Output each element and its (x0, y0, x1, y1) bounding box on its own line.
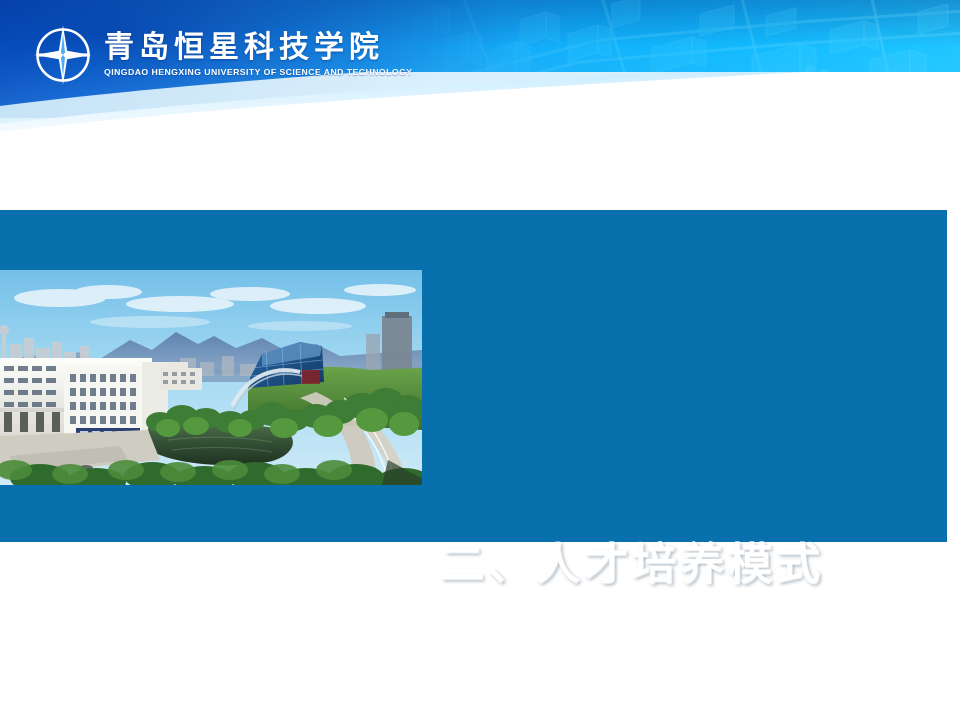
slide-root: 青岛恒星科技学院 QINGDAO HENGXING UNIVERSITY OF … (0, 0, 960, 720)
logo-name-en: QINGDAO HENGXING UNIVERSITY OF SCIENCE A… (104, 68, 413, 77)
slide-title: 二、人才培养模式 (440, 540, 910, 591)
compass-star-emblem-logo-icon (32, 24, 94, 86)
university-logo-lockup: 青岛恒星科技学院 QINGDAO HENGXING UNIVERSITY OF … (32, 22, 407, 88)
content-band: 二、人才培养模式 (0, 210, 947, 542)
campus-panorama-photo (0, 270, 422, 485)
header-banner: 青岛恒星科技学院 QINGDAO HENGXING UNIVERSITY OF … (0, 0, 960, 148)
logo-name-cn: 青岛恒星科技学院 (104, 33, 407, 63)
